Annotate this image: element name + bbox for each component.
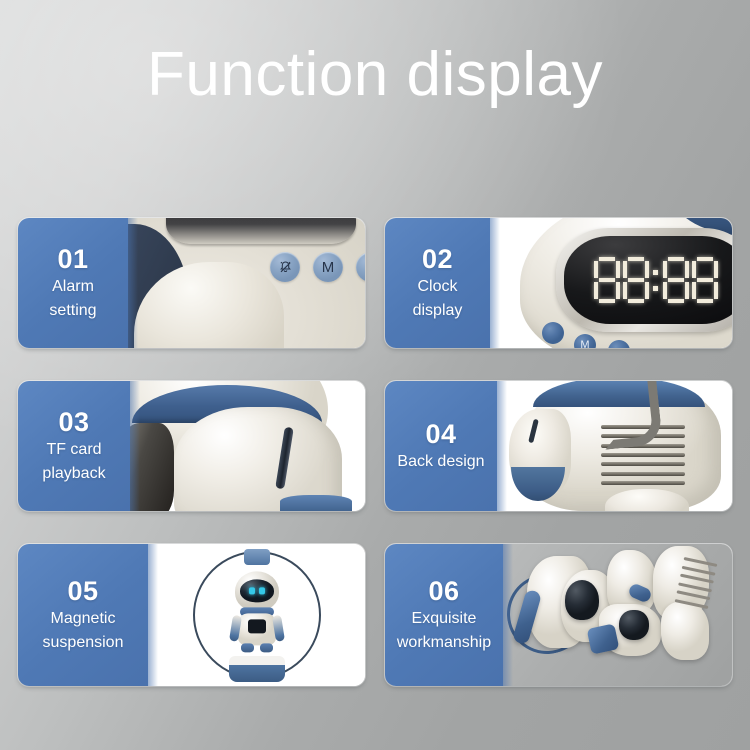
mode-button[interactable]: M [313, 252, 343, 282]
card-label-line-2: playback [42, 462, 105, 485]
card-number: 03 [58, 407, 89, 438]
feature-card-03[interactable]: 03 TF card playback [18, 381, 365, 511]
card-photo-alarm-setting: M + − [128, 218, 365, 348]
card-label-line-2: setting [49, 299, 96, 322]
card-label-line-2: workmanship [397, 631, 491, 654]
robot-chest-screen [248, 619, 266, 633]
part-lens [565, 580, 599, 620]
product-photo-illustration [497, 381, 732, 511]
plus-button[interactable]: + [356, 252, 365, 282]
card-label-line-1: Back design [397, 450, 484, 473]
device-side-button[interactable] [542, 322, 564, 344]
card-number: 02 [422, 244, 453, 275]
led-digit [692, 257, 718, 303]
feature-card-04[interactable]: 04 Back design [385, 381, 732, 511]
card-number: 06 [428, 576, 459, 607]
robot-eye-right [259, 587, 265, 594]
device-foot-shape [280, 495, 352, 511]
robot-boot-right [260, 643, 273, 652]
device-top-screen-edge [166, 218, 356, 244]
part-shell [661, 602, 709, 660]
product-photo-illustration [130, 381, 365, 511]
led-clock-screen [564, 236, 732, 324]
card-label-line-1: Alarm [52, 275, 94, 298]
robot-eye-left [249, 587, 255, 594]
card-label-line-2: suspension [43, 631, 124, 654]
card-photo-clock-display: M [490, 218, 732, 348]
card-photo-exquisite-workmanship [503, 544, 732, 686]
led-colon [652, 257, 660, 303]
card-label-line-1: Clock [417, 275, 457, 298]
card-label-panel: 01 Alarm setting [18, 218, 128, 348]
function-display-poster: Function display 01 Alarm setting [0, 0, 750, 750]
robot-visor [240, 579, 274, 602]
card-label-panel: 02 Clock display [385, 218, 490, 348]
card-label-line-1: Exquisite [412, 607, 477, 630]
levitation-ring-top-mount [244, 549, 270, 565]
product-photo-illustration: M + − [128, 218, 365, 348]
page-title: Function display [0, 44, 750, 106]
led-digit [623, 257, 649, 303]
device-button-row: M + − [270, 252, 365, 282]
card-photo-magnetic-suspension [148, 544, 365, 686]
led-display-bezel [556, 228, 732, 332]
card-label-line-1: TF card [46, 438, 101, 461]
feature-card-grid: 01 Alarm setting [18, 218, 732, 686]
card-label-panel: 03 TF card playback [18, 381, 130, 511]
card-number: 05 [67, 576, 98, 607]
feature-card-06[interactable]: 06 Exquisite workmanship [385, 544, 732, 686]
card-label-line-2: display [413, 299, 463, 322]
feature-card-05[interactable]: 05 Magnetic suspension [18, 544, 365, 686]
levitation-base [229, 656, 285, 682]
card-label-panel: 05 Magnetic suspension [18, 544, 148, 686]
led-digit [594, 257, 620, 303]
product-photo-illustration: M [490, 218, 732, 348]
led-digit [663, 257, 689, 303]
feature-card-02[interactable]: 02 Clock display [385, 218, 732, 348]
card-label-line-1: Magnetic [51, 607, 116, 630]
card-label-panel: 06 Exquisite workmanship [385, 544, 503, 686]
product-photo-illustration [148, 544, 365, 686]
card-photo-back-design [497, 381, 732, 511]
card-photo-tf-card-playback [130, 381, 365, 511]
product-photo-illustration [503, 544, 732, 686]
part-speaker [619, 610, 649, 640]
feature-card-01[interactable]: 01 Alarm setting [18, 218, 365, 348]
card-number: 01 [57, 244, 88, 275]
card-label-panel: 04 Back design [385, 381, 497, 511]
robot-boot-left [241, 643, 254, 652]
card-number: 04 [425, 419, 456, 450]
alarm-bell-icon[interactable] [270, 252, 300, 282]
astronaut-robot [227, 571, 287, 655]
